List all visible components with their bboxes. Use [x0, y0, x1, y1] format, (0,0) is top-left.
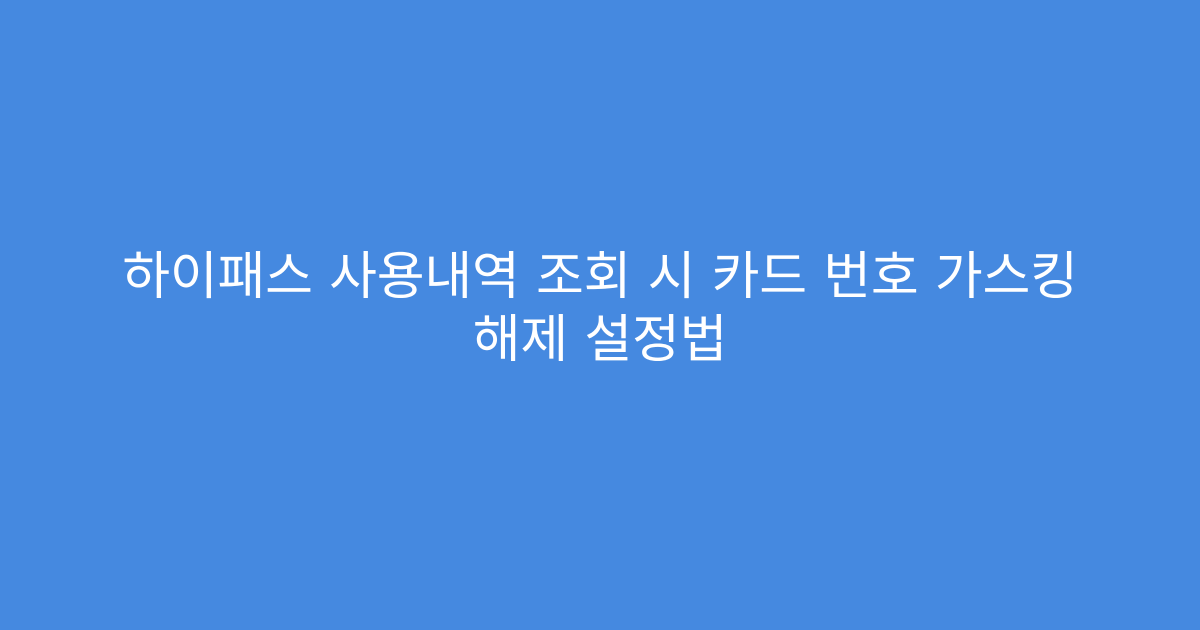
- page-title: 하이패스 사용내역 조회 시 카드 번호 가스킹 해제 설정법: [72, 246, 1128, 372]
- title-block: 하이패스 사용내역 조회 시 카드 번호 가스킹 해제 설정법: [0, 246, 1200, 372]
- og-card: 하이패스 사용내역 조회 시 카드 번호 가스킹 해제 설정법: [0, 0, 1200, 630]
